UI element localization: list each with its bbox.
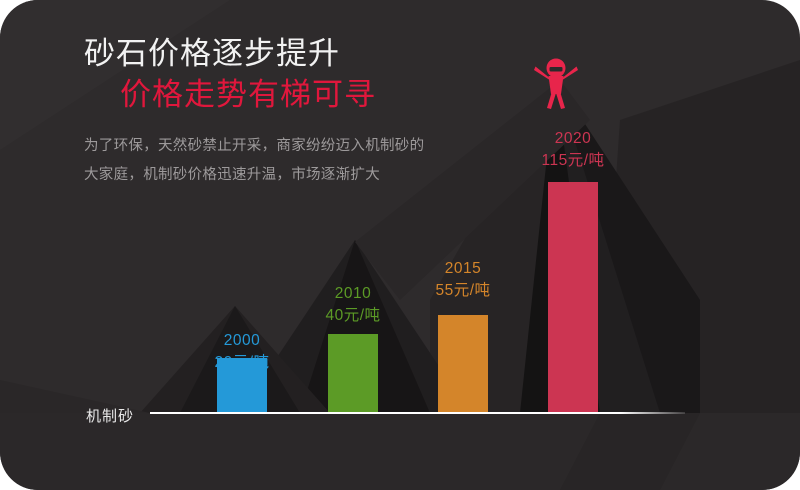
bar-chart: 2000 20元/吨 2010 40元/吨 2015 55元/吨 2020 11… xyxy=(0,0,800,490)
bar-label-2015: 2015 55元/吨 xyxy=(403,258,523,302)
bar-value-2010: 40元/吨 xyxy=(293,305,413,327)
bar-year-2010: 2010 xyxy=(293,283,413,305)
bar-2010[interactable] xyxy=(328,334,378,413)
bar-value-2015: 55元/吨 xyxy=(403,280,523,302)
bar-label-2020: 2020 115元/吨 xyxy=(513,128,633,172)
bar-2020[interactable] xyxy=(548,182,598,413)
bar-year-2000: 2000 xyxy=(182,330,302,352)
bar-2000[interactable] xyxy=(217,358,267,413)
axis-baseline xyxy=(150,412,685,414)
bar-year-2020: 2020 xyxy=(513,128,633,150)
person-celebrating-icon xyxy=(530,54,582,110)
bar-label-2010: 2010 40元/吨 xyxy=(293,283,413,327)
axis-label-category: 机制砂 xyxy=(86,405,134,426)
dark-panel: 砂石价格逐步提升 价格走势有梯可寻 为了环保，天然砂禁止开采，商家纷纷迈入机制砂… xyxy=(0,0,800,490)
infographic-stage: 砂石价格逐步提升 价格走势有梯可寻 为了环保，天然砂禁止开采，商家纷纷迈入机制砂… xyxy=(0,0,800,490)
bar-2015[interactable] xyxy=(438,315,488,413)
bar-value-2020: 115元/吨 xyxy=(513,150,633,172)
bar-year-2015: 2015 xyxy=(403,258,523,280)
